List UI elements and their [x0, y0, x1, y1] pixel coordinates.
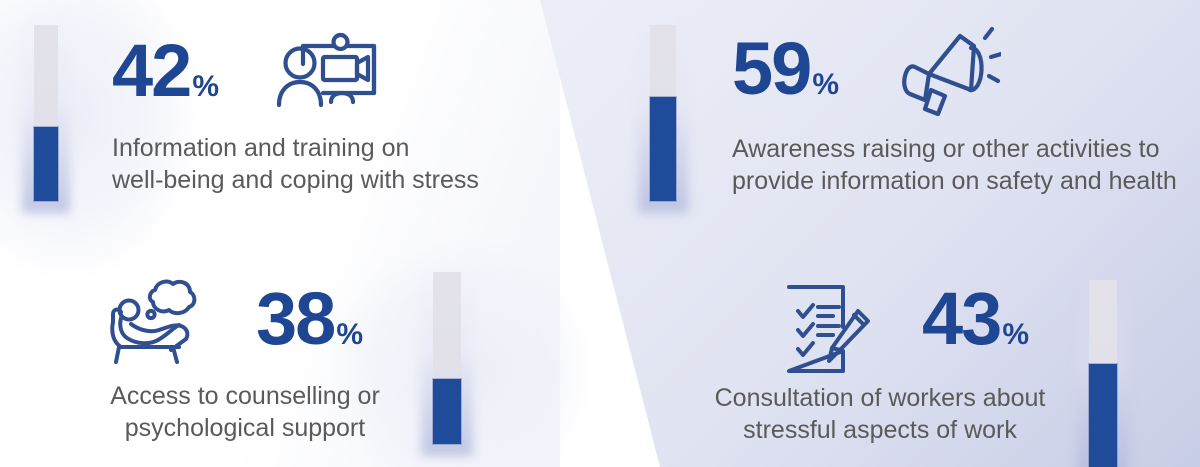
video-training-icon [275, 30, 380, 108]
caption-line-2: well-being and coping with stress [112, 164, 532, 196]
percent-symbol: % [192, 72, 219, 102]
stat-card-information-training: 42 % Information [0, 0, 540, 240]
stat-value-information-training: 42 % [112, 38, 219, 105]
stat-caption-counselling-access: Access to counselling or psychological s… [90, 380, 400, 444]
caption-line-1: Access to counselling or [90, 380, 400, 412]
stat-bar-fill [433, 379, 461, 444]
stat-number: 42 [112, 38, 190, 105]
stat-value-awareness-raising: 59 % [732, 36, 839, 103]
stat-caption-worker-consultation: Consultation of workers about stressful … [700, 382, 1060, 446]
stat-card-awareness-raising: 59 % Awareness raising or other activiti… [600, 0, 1200, 240]
stat-bar-information-training [34, 25, 58, 201]
person-reclining-thought-icon [105, 274, 205, 364]
stat-card-counselling-access: 38 % Access to counselling or psychologi… [90, 250, 510, 467]
stat-value-counselling-access: 38 % [256, 286, 363, 353]
stat-bar-worker-consultation [1089, 280, 1117, 467]
stat-number: 38 [256, 286, 334, 353]
stat-caption-information-training: Information and training on well-being a… [112, 132, 532, 196]
stat-bar-awareness-raising [650, 25, 676, 201]
caption-line-2: provide information on safety and health [732, 165, 1200, 197]
caption-line-2: stressful aspects of work [700, 414, 1060, 446]
stat-bar-fill [34, 127, 58, 201]
percent-symbol: % [336, 320, 363, 350]
caption-line-1: Consultation of workers about [700, 382, 1060, 414]
caption-line-2: psychological support [90, 412, 400, 444]
percent-symbol: % [1002, 320, 1029, 350]
stat-number: 59 [732, 36, 810, 103]
stat-caption-awareness-raising: Awareness raising or other activities to… [732, 133, 1200, 197]
stat-card-worker-consultation: 43 % Consultation of workers about stres… [700, 250, 1200, 467]
stat-bar-counselling-access [433, 272, 461, 444]
infographic-canvas: 42 % Information [0, 0, 1200, 467]
checklist-pencil-icon [780, 283, 880, 375]
megaphone-icon [897, 26, 1001, 118]
percent-symbol: % [812, 70, 839, 100]
stat-bar-fill [1089, 364, 1117, 467]
caption-line-1: Awareness raising or other activities to [732, 133, 1200, 165]
stat-number: 43 [922, 286, 1000, 353]
stat-value-worker-consultation: 43 % [922, 286, 1029, 353]
stat-bar-fill [650, 97, 676, 201]
caption-line-1: Information and training on [112, 132, 532, 164]
